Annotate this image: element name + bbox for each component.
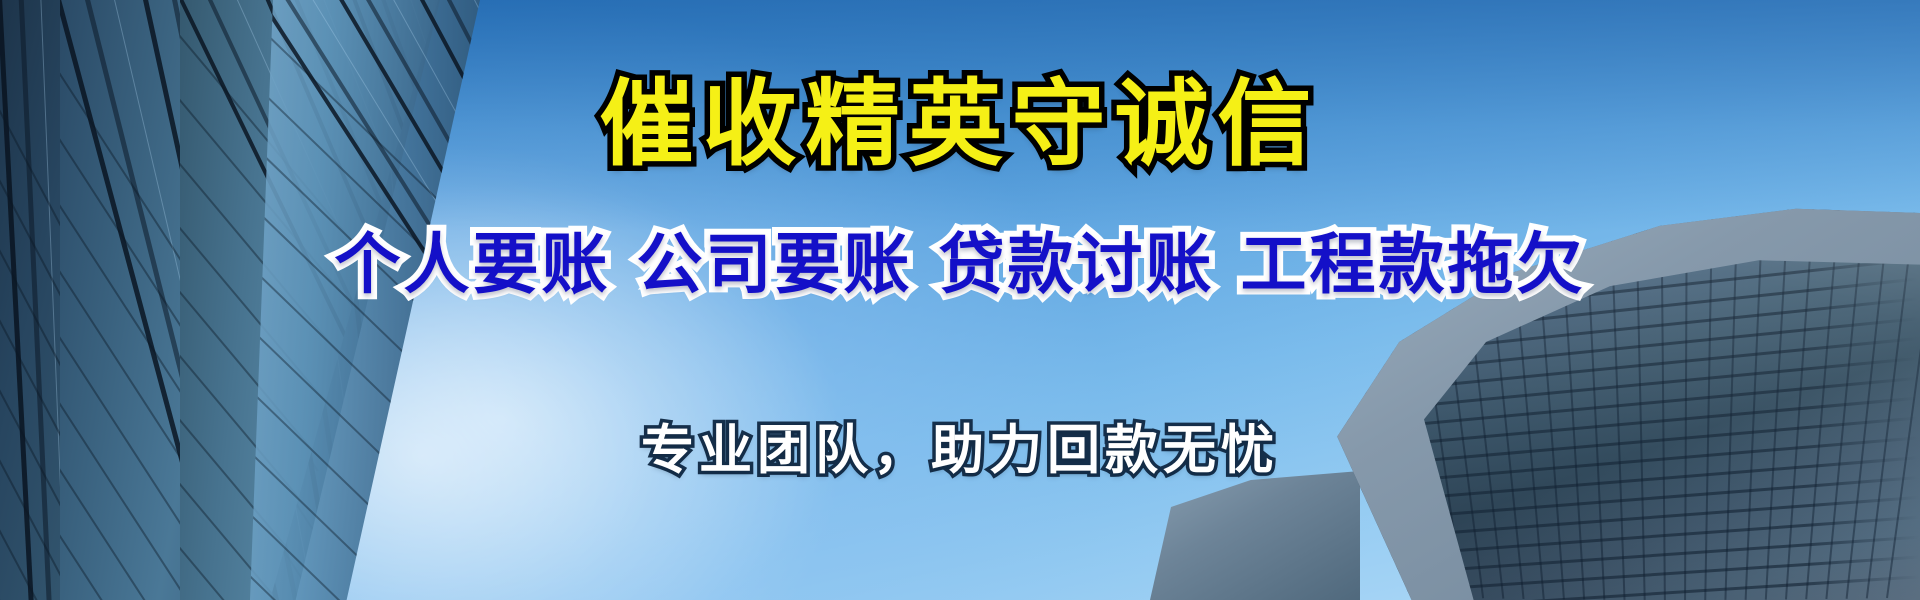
banner-headline: 催收精英守诚信 (0, 78, 1920, 172)
banner-subhead: 个人要账 公司要账 贷款讨账 工程款拖欠 (0, 232, 1920, 298)
promo-banner: 催收精英守诚信 个人要账 公司要账 贷款讨账 工程款拖欠 专业团队，助力回款无忧 (0, 0, 1920, 600)
banner-text-block: 催收精英守诚信 个人要账 公司要账 贷款讨账 工程款拖欠 专业团队，助力回款无忧 (0, 0, 1920, 600)
banner-tagline: 专业团队，助力回款无忧 (0, 424, 1920, 477)
